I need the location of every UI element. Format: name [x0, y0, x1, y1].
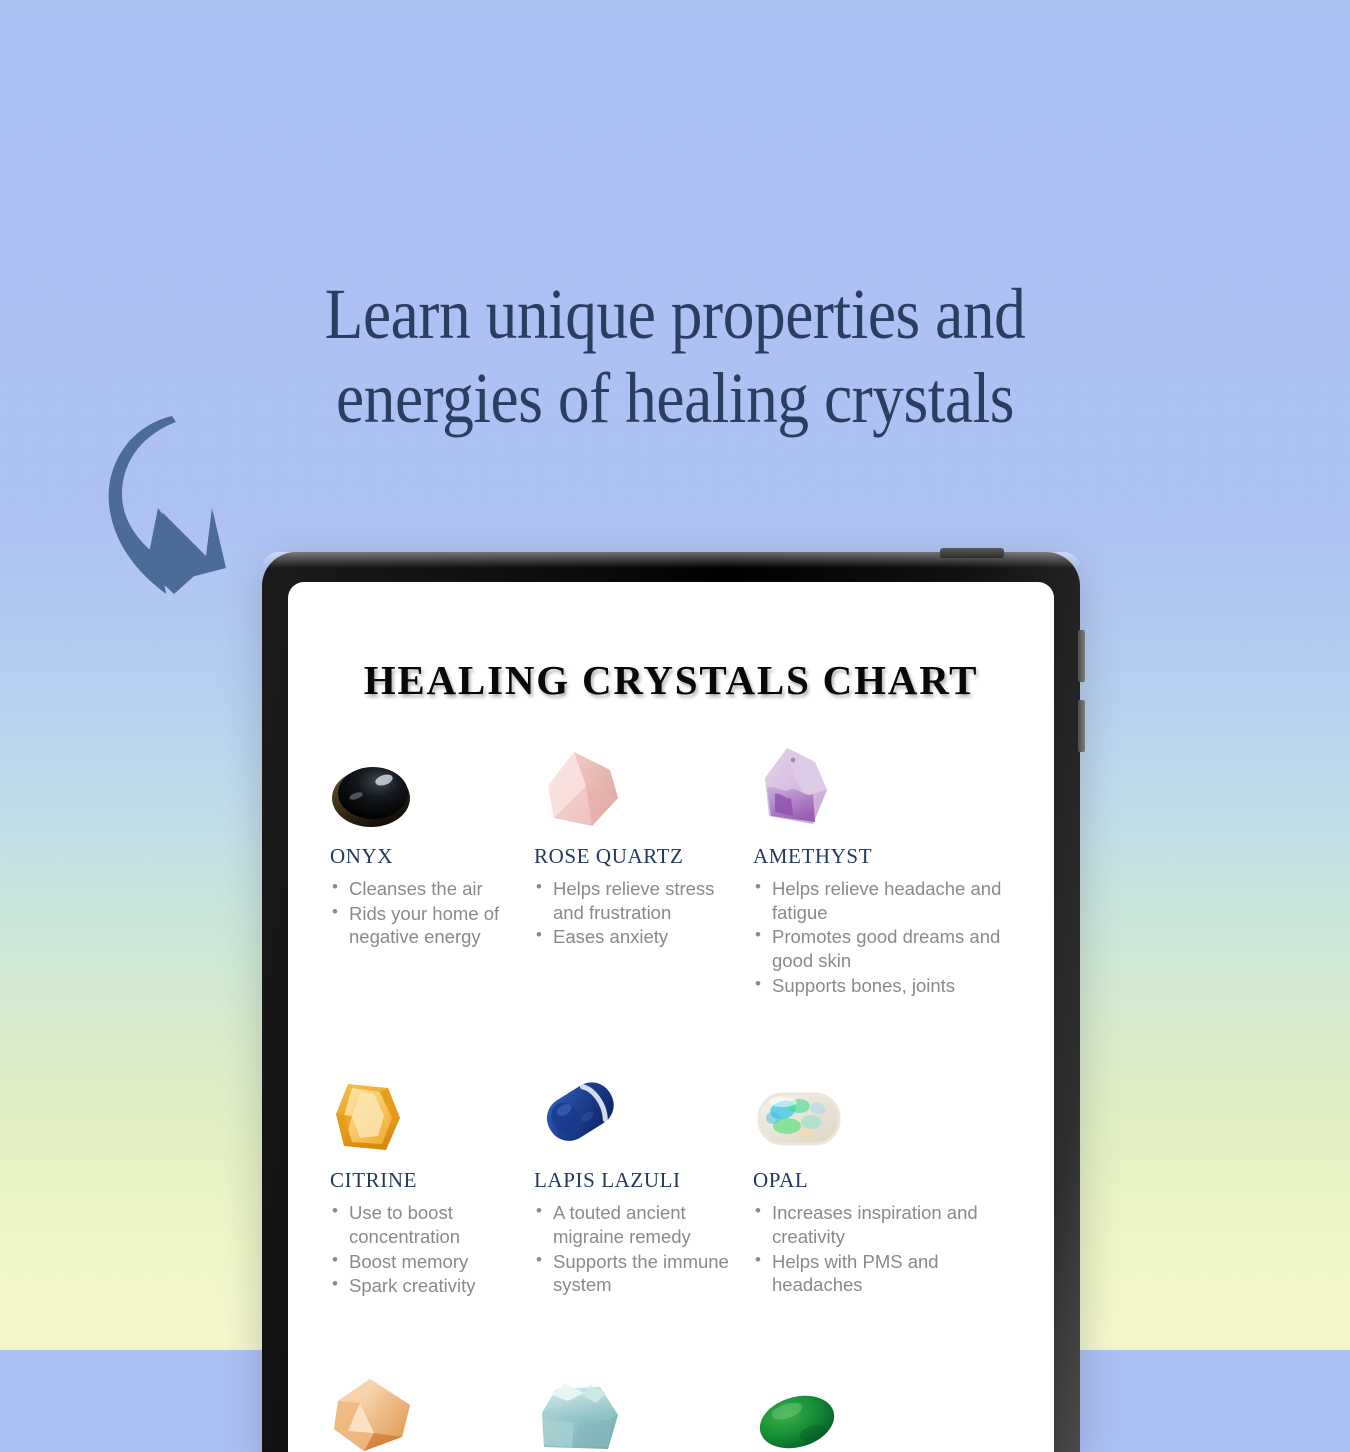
crystal-card-lapis-lazuli: LAPIS LAZULI A touted ancient migraine r… — [534, 1066, 749, 1299]
crystals-grid: ONYX Cleanses the air Rids your home of … — [288, 742, 1054, 1452]
property-item: A touted ancient migraine remedy — [534, 1201, 749, 1248]
crystal-name: AMETHYST — [753, 844, 1020, 869]
curved-down-arrow-icon — [100, 408, 244, 600]
tablet-screen: HEALING CRYSTALS CHART — [288, 582, 1054, 1452]
power-button[interactable] — [940, 548, 1004, 558]
property-item: Helps with PMS and headaches — [753, 1250, 1020, 1297]
property-item: Eases anxiety — [534, 925, 749, 949]
opal-gem-icon — [753, 1066, 1020, 1154]
property-item: Helps relieve headache and fatigue — [753, 877, 1020, 924]
crystal-name: ROSE QUARTZ — [534, 844, 749, 869]
property-item: Increases inspiration and creativity — [753, 1201, 1020, 1248]
chart-title: HEALING CRYSTALS CHART — [288, 656, 1054, 704]
property-item: Spark creativity — [330, 1274, 530, 1298]
citrine-gem-icon — [330, 1066, 530, 1154]
tablet-device: HEALING CRYSTALS CHART — [262, 552, 1080, 1452]
rose-quartz-gem-icon — [534, 742, 749, 830]
crystal-properties: A touted ancient migraine remedy Support… — [534, 1201, 749, 1297]
crystal-properties: Helps relieve stress and frustration Eas… — [534, 877, 749, 949]
crystal-name: ONYX — [330, 844, 530, 869]
crystal-name: CITRINE — [330, 1168, 530, 1193]
property-item: Cleanses the air — [330, 877, 530, 901]
crystal-properties: Cleanses the air Rids your home of negat… — [330, 877, 530, 949]
crystal-properties: Use to boost concentration Boost memory … — [330, 1201, 530, 1298]
crystal-card-onyx: ONYX Cleanses the air Rids your home of … — [330, 742, 530, 998]
onyx-gem-icon — [330, 742, 530, 830]
lapis-lazuli-gem-icon — [534, 1066, 749, 1154]
topaz-gem-icon — [330, 1367, 530, 1452]
headline-line-1: Learn unique properties and — [81, 278, 1269, 350]
crystal-name: LAPIS LAZULI — [534, 1168, 749, 1193]
property-item: Use to boost concentration — [330, 1201, 530, 1248]
volume-down-button[interactable] — [1078, 700, 1085, 752]
property-item: Supports bones, joints — [753, 974, 1020, 998]
crystal-properties: Increases inspiration and creativity Hel… — [753, 1201, 1020, 1297]
property-item: Rids your home of negative energy — [330, 902, 530, 949]
aquamarine-gem-icon — [534, 1367, 749, 1452]
crystal-card-aquamarine: AQUAMARINE Aids with acid reflux and gas… — [534, 1367, 749, 1452]
crystal-card-topaz: TOPAZ Works to balance hormones & combat — [330, 1367, 530, 1452]
crystal-card-jade: JADE Supports the adrenal glands and rel… — [753, 1367, 1020, 1452]
crystal-card-opal: OPAL Increases inspiration and creativit… — [753, 1066, 1020, 1299]
crystal-card-citrine: CITRINE Use to boost concentration Boost… — [330, 1066, 530, 1299]
crystal-name: OPAL — [753, 1168, 1020, 1193]
crystal-properties: Helps relieve headache and fatigue Promo… — [753, 877, 1020, 997]
page-headline: Learn unique properties and energies of … — [81, 278, 1269, 434]
property-item: Helps relieve stress and frustration — [534, 877, 749, 924]
property-item: Promotes good dreams and good skin — [753, 925, 1020, 972]
jade-gem-icon — [753, 1367, 1020, 1452]
volume-up-button[interactable] — [1078, 630, 1085, 682]
amethyst-gem-icon — [753, 742, 1020, 830]
crystal-card-amethyst: AMETHYST Helps relieve headache and fati… — [753, 742, 1020, 998]
property-item: Supports the immune system — [534, 1250, 749, 1297]
headline-line-2: energies of healing crystals — [81, 362, 1269, 434]
property-item: Boost memory — [330, 1250, 530, 1274]
crystal-card-rose-quartz: ROSE QUARTZ Helps relieve stress and fru… — [534, 742, 749, 998]
